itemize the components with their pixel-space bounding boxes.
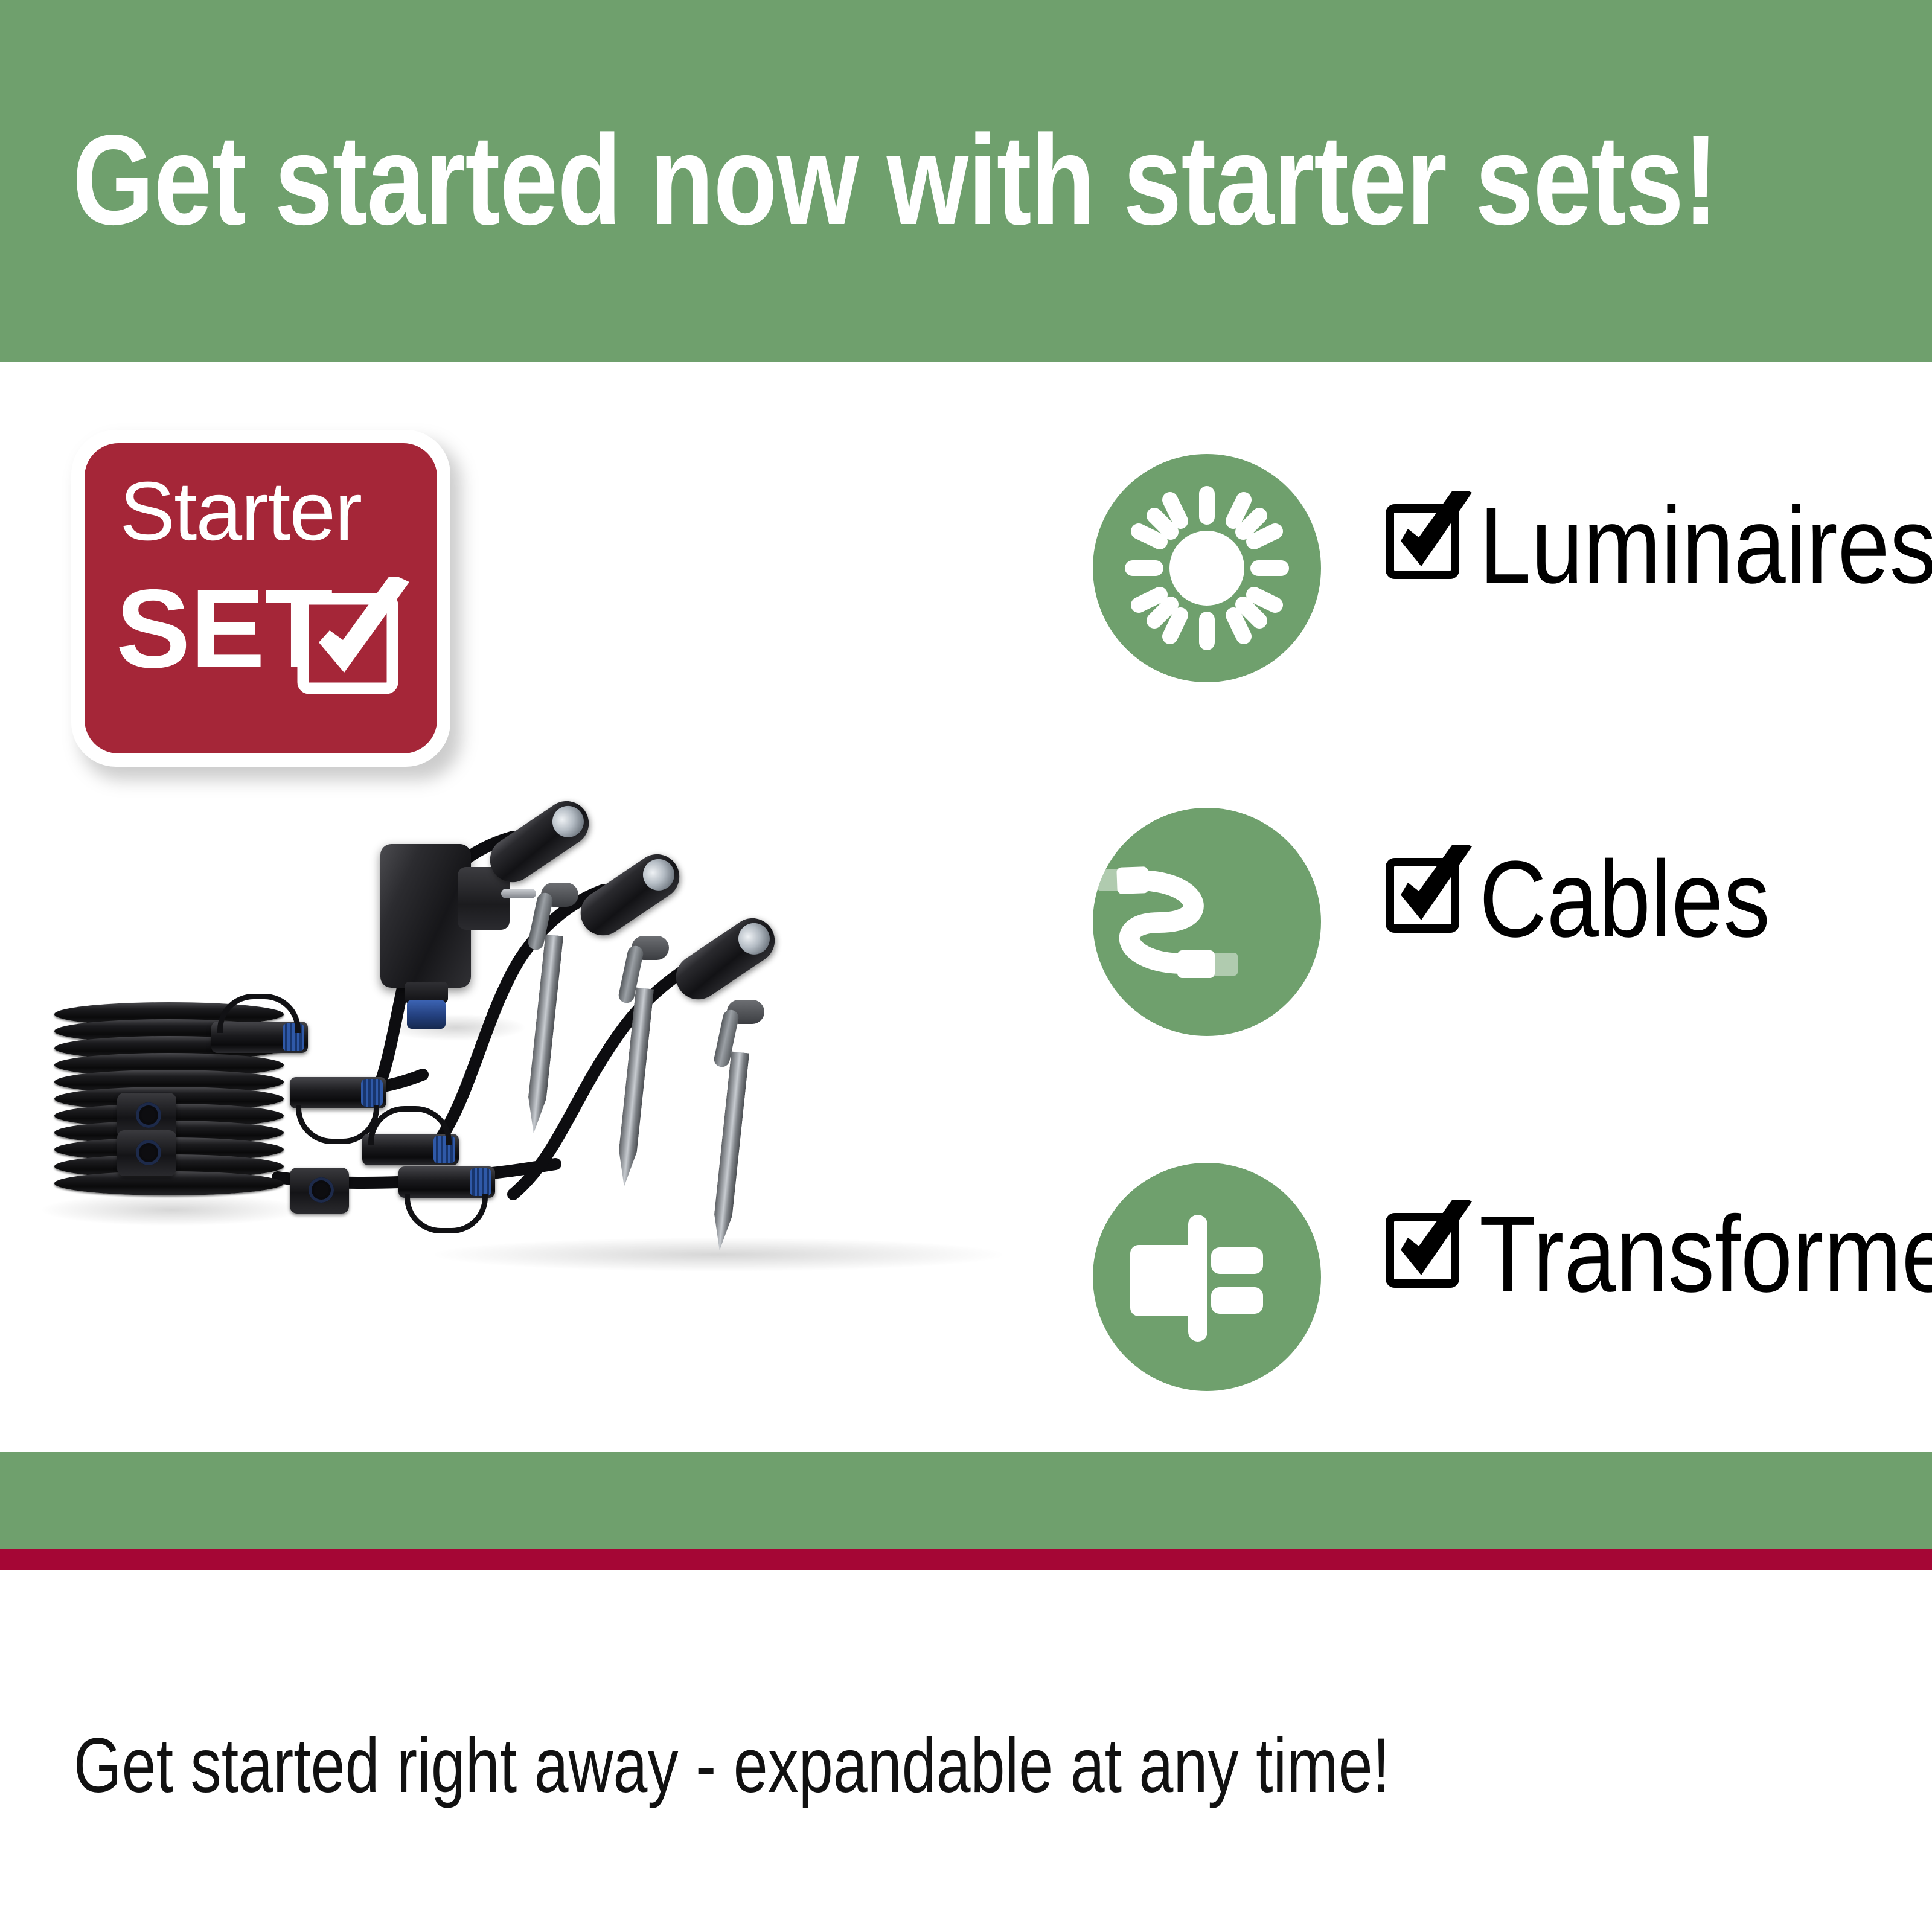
cable-connector	[398, 1166, 495, 1198]
checkbox-check-icon	[1384, 491, 1474, 582]
footer-caption: Get started right away - expandable at a…	[74, 1715, 1474, 1817]
spike-light-3	[669, 932, 808, 1246]
footer-green-band	[0, 1452, 1932, 1549]
badge-white-border: Starter SET	[71, 430, 450, 767]
t-connector	[290, 1168, 349, 1214]
checkbox-check-icon	[295, 577, 415, 698]
feature-label-cables: Cables	[1479, 839, 1770, 960]
checkbox-check-icon	[1384, 845, 1474, 936]
feature-label-transformer: Transformer	[1479, 1194, 1932, 1315]
sun-icon	[1093, 454, 1321, 682]
checkbox-check-icon	[1384, 1200, 1474, 1291]
feature-circle	[1093, 454, 1321, 682]
plug-icon	[1093, 1163, 1321, 1391]
footer-red-band	[0, 1549, 1932, 1570]
feature-circle	[1093, 1163, 1321, 1391]
feature-label-luminaires: Luminaires	[1479, 485, 1932, 606]
badge-line-starter: Starter	[120, 466, 361, 557]
feature-circle	[1093, 808, 1321, 1036]
starter-set-badge: Starter SET	[71, 430, 464, 780]
cable-icon	[1093, 808, 1321, 1036]
badge-red-face: Starter SET	[85, 443, 437, 753]
product-photo	[36, 761, 1099, 1304]
cable-connector	[290, 1077, 386, 1108]
t-connector	[117, 1130, 176, 1176]
page-title: Get started now with starter sets!	[72, 107, 1558, 252]
